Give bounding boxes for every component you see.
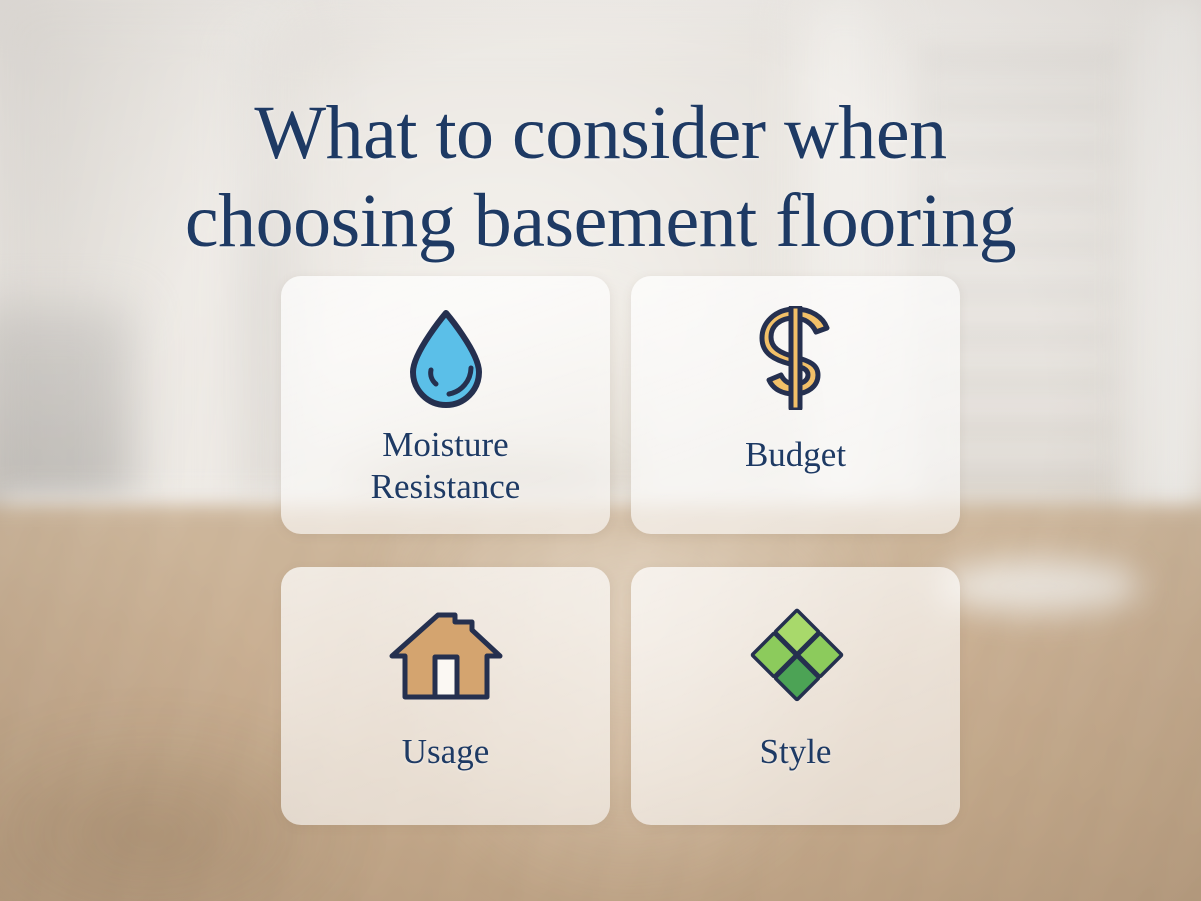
card-usage[interactable]: Usage xyxy=(281,567,610,825)
card-moisture-resistance[interactable]: Moisture Resistance xyxy=(281,276,610,534)
dollar-sign-icon xyxy=(755,310,837,406)
consideration-card-grid: Moisture Resistance Budget xyxy=(281,276,960,825)
page-title: What to consider when choosing basement … xyxy=(0,89,1201,265)
diamond-tiles-icon xyxy=(746,607,846,703)
infographic-slide: What to consider when choosing basement … xyxy=(0,0,1201,901)
card-label: Style xyxy=(760,731,832,773)
water-droplet-icon xyxy=(403,310,489,406)
card-label: Budget xyxy=(745,434,846,476)
card-label: Usage xyxy=(402,731,489,773)
house-icon xyxy=(389,607,503,703)
card-label: Moisture Resistance xyxy=(371,424,521,508)
card-style[interactable]: Style xyxy=(631,567,960,825)
card-budget[interactable]: Budget xyxy=(631,276,960,534)
